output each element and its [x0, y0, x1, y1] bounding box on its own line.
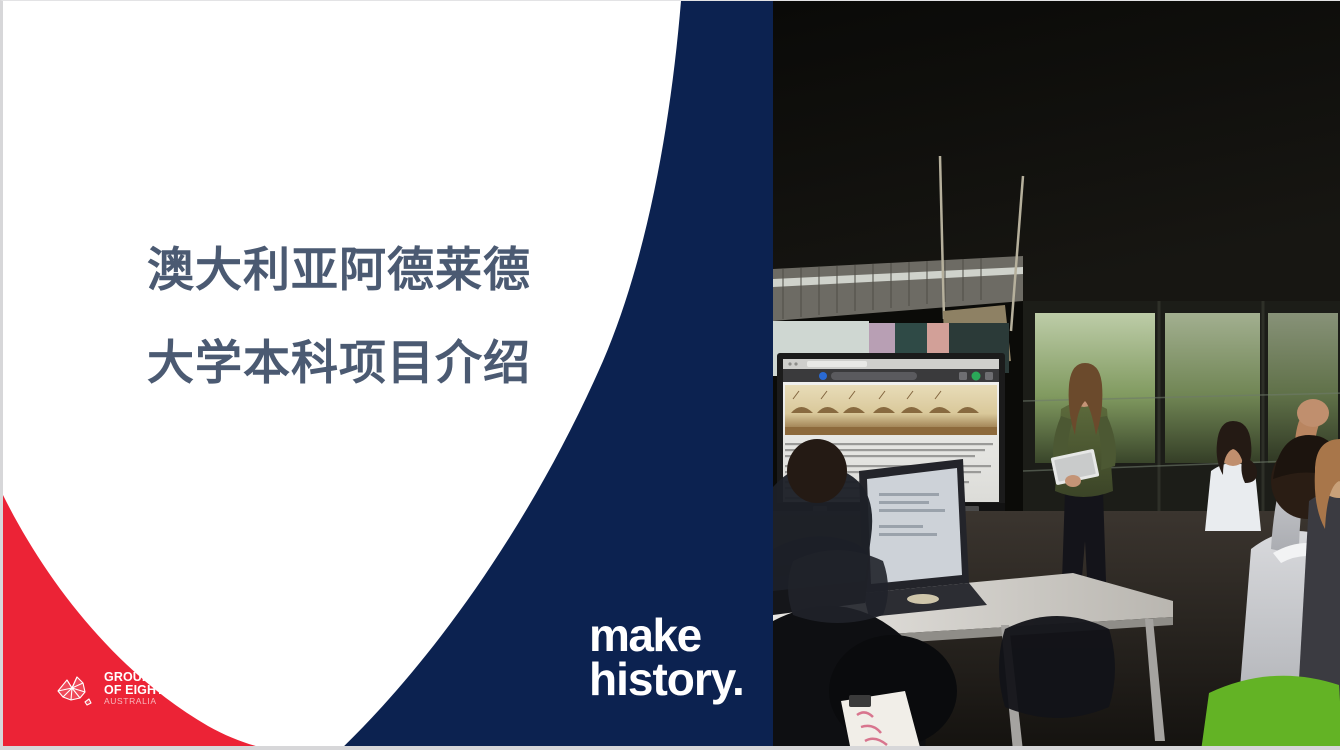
- classroom-photo: [773, 1, 1340, 750]
- wordmark-line-1: make: [589, 613, 744, 657]
- red-wedge-shape: [3, 481, 303, 750]
- group-of-eight-logo-text: GROUP OF EIGHT AUSTRALIA: [104, 671, 164, 707]
- logo-line-1: GROUP: [104, 671, 164, 684]
- logo-line-2: OF EIGHT: [104, 684, 164, 697]
- title-line-2: 大学本科项目介绍: [147, 316, 577, 409]
- logo-line-3: AUSTRALIA: [104, 696, 164, 707]
- page-title: 澳大利亚阿德莱德 大学本科项目介绍: [147, 223, 577, 409]
- make-history-wordmark: make history.: [589, 613, 744, 701]
- australia-map-icon: [55, 671, 97, 707]
- classroom-photo-illustration: [773, 1, 1340, 750]
- presentation-slide: 澳大利亚阿德莱德 大学本科项目介绍 make history.: [0, 0, 1340, 750]
- wordmark-line-2: history.: [589, 657, 744, 701]
- title-line-1: 澳大利亚阿德莱德: [147, 223, 577, 316]
- left-content-panel: 澳大利亚阿德莱德 大学本科项目介绍 make history.: [3, 1, 773, 750]
- group-of-eight-logo: GROUP OF EIGHT AUSTRALIA: [55, 671, 164, 707]
